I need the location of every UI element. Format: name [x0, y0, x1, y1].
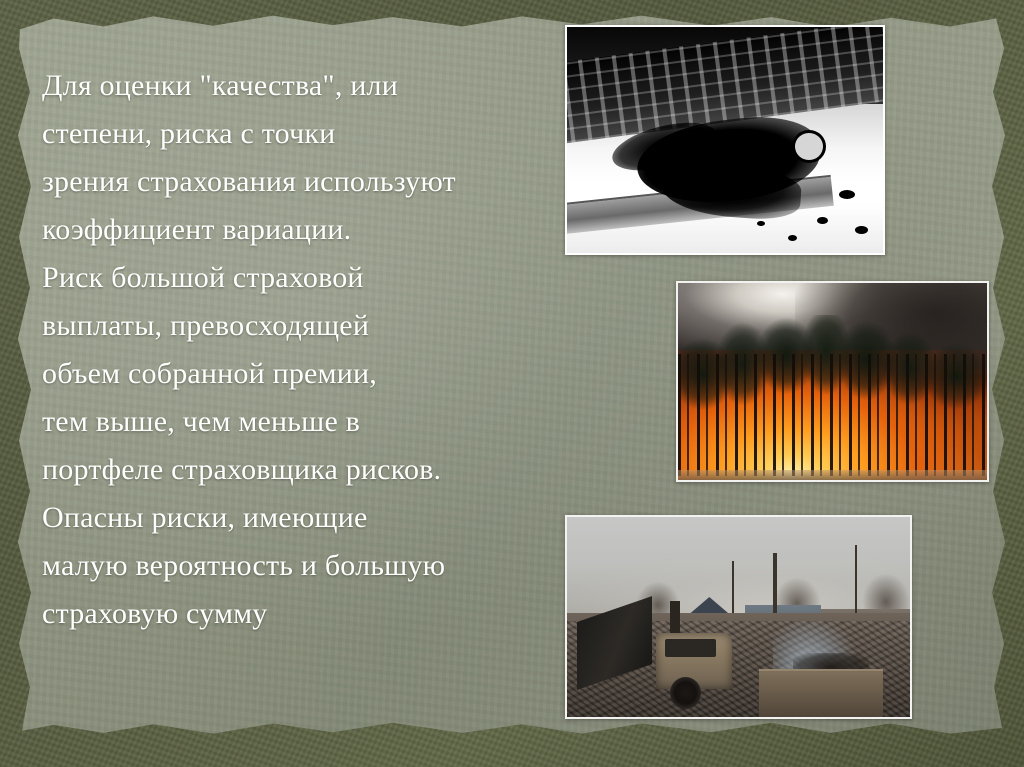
bw-photo-speck [855, 226, 868, 234]
presentation-slide: Для оценки "качества", или степени, риск… [0, 0, 1024, 767]
text-line-10: Опасны риски, имеющие [42, 494, 602, 542]
text-line-7: объем собранной премии, [42, 350, 602, 398]
text-line-5: Риск большой страховой [42, 254, 602, 302]
text-line-3: зрения страхования используют [42, 158, 602, 206]
text-line-2: степени, риска с точки [42, 110, 602, 158]
text-line-4: коэффициент вариации. [42, 206, 602, 254]
forest-fire-photo [676, 281, 989, 482]
bw-photo-speck [788, 235, 797, 241]
slide-body-text: Для оценки "качества", или степени, риск… [42, 62, 602, 638]
ruins-photo-truck-window [665, 639, 716, 657]
text-line-12: страховую сумму [42, 590, 602, 638]
text-line-8: тем выше, чем меньше в [42, 398, 602, 446]
text-line-6: выплаты, превосходящей [42, 302, 602, 350]
text-line-11: малую вероятность и большую [42, 542, 602, 590]
fire-photo-ground [678, 470, 987, 480]
ruins-photo-truck-wheel [670, 677, 701, 709]
text-line-9: портфеле страховщика рисков. [42, 446, 602, 494]
black-and-white-street-casualty-photo [565, 25, 885, 255]
burnt-village-truck-photo [565, 515, 912, 719]
bw-photo-speck [839, 190, 855, 199]
bw-photo-speck [817, 217, 828, 224]
text-line-1: Для оценки "качества", или [42, 62, 602, 110]
fire-photo-tree-trunks [678, 354, 987, 476]
bw-photo-head [795, 133, 823, 160]
ruins-photo-metal-container [759, 669, 882, 719]
